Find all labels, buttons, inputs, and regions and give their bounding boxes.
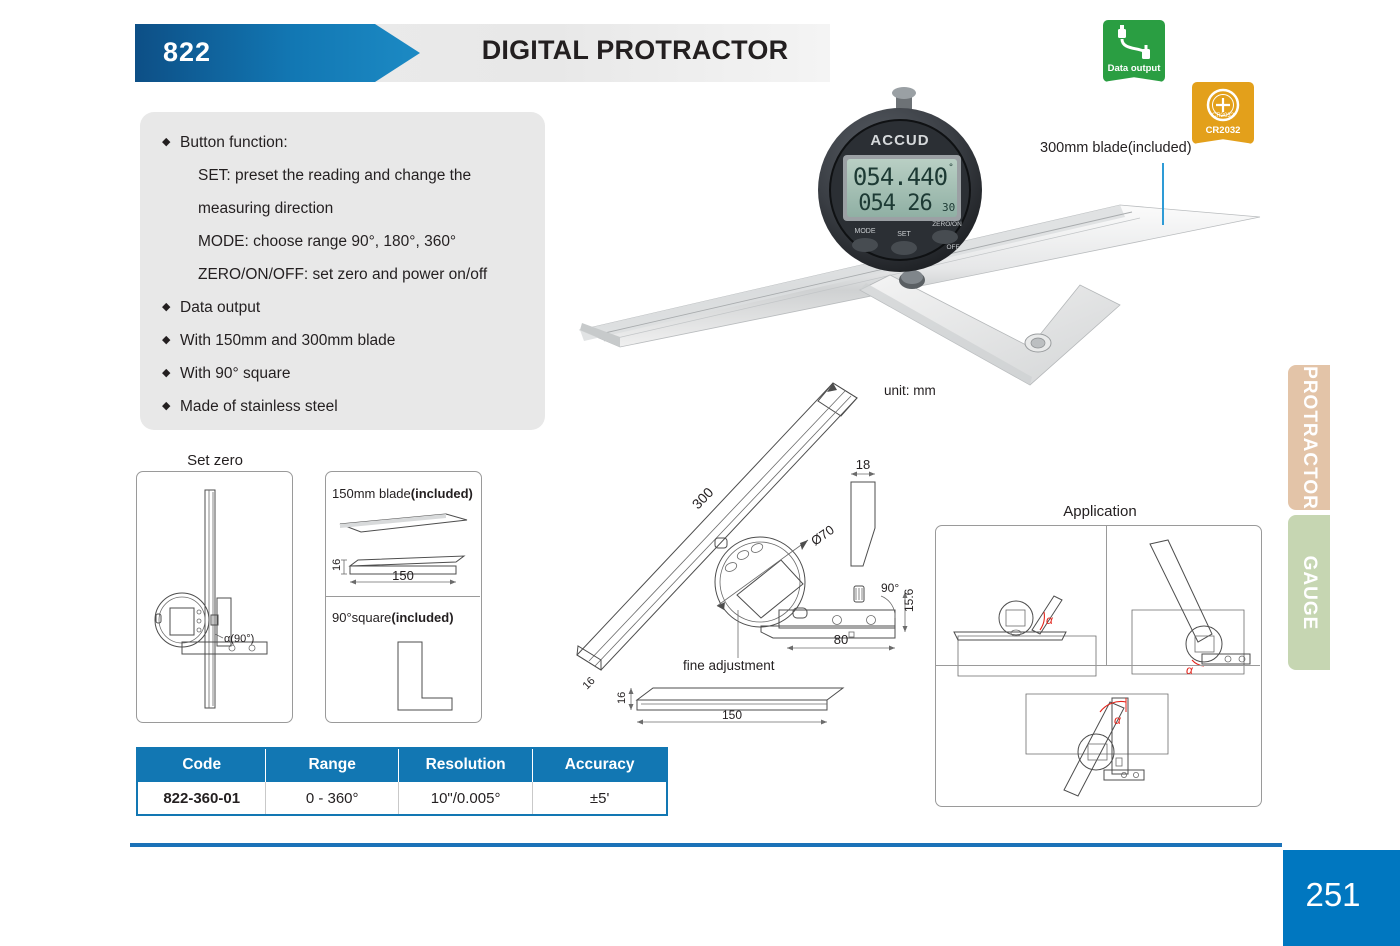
svg-text:°: ° <box>949 163 954 173</box>
feature-list: ◆ Button function: SET: preset the readi… <box>162 126 532 423</box>
feature-text: With 90° square <box>180 357 290 390</box>
footer-rule <box>130 843 1282 847</box>
table-row: 822-360-01 0 - 360° 10"/0.005° ±5' <box>137 782 667 816</box>
sidebar-tab-gauge[interactable]: GAUGE <box>1288 515 1330 670</box>
svg-text:30: 30 <box>942 201 955 214</box>
dim-height: 15.6 <box>902 588 916 612</box>
square-caption: 90°square(included) <box>332 610 454 625</box>
list-item: MODE: choose range 90°, 180°, 360° <box>162 225 532 258</box>
list-item: ◆ With 90° square <box>162 357 532 390</box>
accessories-drawing: 16 150 <box>326 472 481 722</box>
setzero-angle-label: α(90°) <box>224 633 254 645</box>
diamond-bullet-icon: ◆ <box>162 324 180 357</box>
setzero-title: Set zero <box>135 452 295 469</box>
svg-text:SET: SET <box>897 231 911 238</box>
list-item: measuring direction <box>162 192 532 225</box>
accessories-divider <box>325 596 480 597</box>
dim-blade-length: 300 <box>689 484 717 512</box>
setzero-drawing: α(90°) <box>137 472 292 722</box>
callout-300mm-blade: 300mm blade(included) <box>1040 140 1192 156</box>
feature-text: ZERO/ON/OFF: set zero and power on/off <box>180 258 487 291</box>
table-header-row: Code Range Resolution Accuracy <box>137 748 667 782</box>
cell-range: 0 - 360° <box>266 782 399 816</box>
diamond-bullet-icon: ◆ <box>162 126 180 159</box>
column-header-accuracy: Accuracy <box>533 748 667 782</box>
feature-text: Data output <box>180 291 260 324</box>
feature-text: measuring direction <box>180 192 333 225</box>
column-header-resolution: Resolution <box>398 748 532 782</box>
cell-resolution: 10"/0.005° <box>398 782 532 816</box>
list-item: ZERO/ON/OFF: set zero and power on/off <box>162 258 532 291</box>
list-item: ◆ Made of stainless steel <box>162 390 532 423</box>
cell-code: 822-360-01 <box>137 782 266 816</box>
angle-symbol-1: α <box>1046 613 1054 627</box>
svg-text:054 26: 054 26 <box>858 191 931 216</box>
dim-blade150-thickness: 16 <box>331 559 343 571</box>
product-code: 822 <box>163 37 363 68</box>
dim-blade150-length: 150 <box>392 568 414 583</box>
column-header-range: Range <box>266 748 399 782</box>
dim-blade150b-length: 150 <box>722 708 742 722</box>
list-item: SET: preset the reading and change the <box>162 159 532 192</box>
sidebar-tab-protractor-label: PROTRACTOR <box>1298 366 1320 510</box>
list-item: ◆ Data output <box>162 291 532 324</box>
diamond-bullet-icon: ◆ <box>162 357 180 390</box>
application-divider-vertical <box>1106 525 1107 665</box>
note-fine-adjustment: fine adjustment <box>683 658 775 673</box>
page-number: 251 <box>1283 876 1383 914</box>
setzero-diagram: α(90°) <box>136 471 293 723</box>
application-drawings: α α α <box>936 526 1261 806</box>
page-header: 822 DIGITAL PROTRACTOR <box>135 24 830 82</box>
feature-text: SET: preset the reading and change the <box>180 159 471 192</box>
feature-text: MODE: choose range 90°, 180°, 360° <box>180 225 456 258</box>
dim-angle: 90° <box>881 581 899 595</box>
specification-table: Code Range Resolution Accuracy 822-360-0… <box>136 747 668 816</box>
svg-text:OFF: OFF <box>947 244 960 251</box>
page-number-box: 251 <box>1283 850 1400 946</box>
application-title: Application <box>1000 503 1200 520</box>
feature-panel: ◆ Button function: SET: preset the readi… <box>140 112 545 430</box>
dim-base-width: 80 <box>834 632 848 647</box>
dim-arm-width: 18 <box>856 457 870 472</box>
dim-blade-thickness: 16 <box>581 675 598 692</box>
cell-accuracy: ±5' <box>533 782 667 816</box>
badge-data-output: Data output <box>1103 20 1165 82</box>
diamond-bullet-icon: ◆ <box>162 390 180 423</box>
application-divider-horizontal <box>935 665 1260 666</box>
list-item: ◆ Button function: <box>162 126 532 159</box>
product-photo: ACCUD 054.440 ° 054 26 30 MODE SET ZERO/… <box>560 85 1280 415</box>
dim-dial-diameter: Ø70 <box>808 522 837 548</box>
feature-text: Button function: <box>180 126 288 159</box>
angle-symbol-3: α <box>1114 713 1122 727</box>
dim-blade150b-thickness: 16 <box>616 692 628 704</box>
callout-leader-line <box>1162 163 1164 225</box>
feature-text: With 150mm and 300mm blade <box>180 324 395 357</box>
gauge-brand: ACCUD <box>870 132 929 149</box>
usb-cable-icon <box>1103 24 1165 64</box>
diamond-bullet-icon: ◆ <box>162 291 180 324</box>
sidebar-tab-gauge-label: GAUGE <box>1298 555 1320 630</box>
badge-data-output-label: Data output <box>1103 63 1165 74</box>
list-item: ◆ With 150mm and 300mm blade <box>162 324 532 357</box>
feature-text: Made of stainless steel <box>180 390 338 423</box>
svg-text:054.440: 054.440 <box>853 163 947 191</box>
accessories-box: 16 150 150mm blade(included) 90°square(i… <box>325 471 482 723</box>
technical-drawing: 300 16 Ø70 fine adjustment 18 80 90° 15.… <box>565 370 935 735</box>
column-header-code: Code <box>137 748 266 782</box>
svg-text:ZERO/ON: ZERO/ON <box>932 221 962 228</box>
blade150-caption: 150mm blade(included) <box>332 486 473 501</box>
svg-text:MODE: MODE <box>855 228 876 235</box>
application-box: α α α <box>935 525 1262 807</box>
page-title: DIGITAL PROTRACTOR <box>445 35 825 66</box>
sidebar-tab-protractor[interactable]: PROTRACTOR <box>1288 365 1330 510</box>
